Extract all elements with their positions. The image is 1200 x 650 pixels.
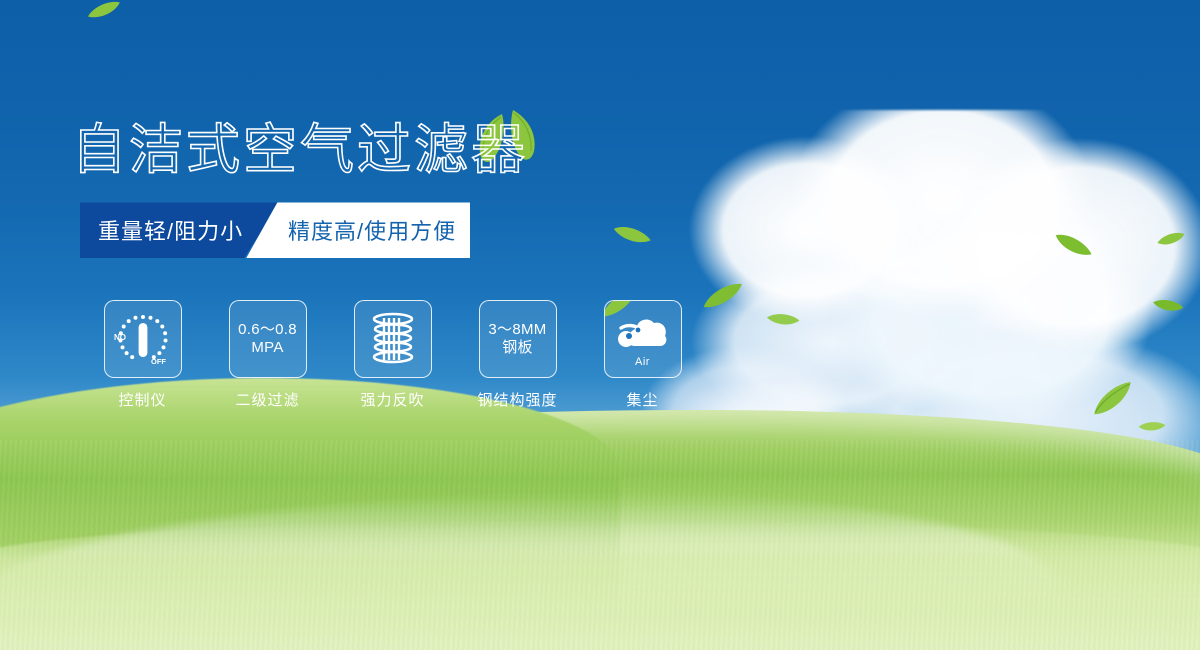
air-cloud-icon — [615, 315, 671, 355]
feature-item-steel[interactable]: 3～8MM 钢板 钢结构强度 — [455, 300, 580, 410]
feature-item-controller[interactable]: NO OFF 控制仪 — [80, 300, 205, 410]
feature-item-backblow[interactable]: 强力反吹 — [330, 300, 455, 410]
feature-item-dust[interactable]: Air 集尘 — [580, 300, 705, 410]
subtitle-left-panel: 重量轻/阻力小 — [80, 202, 280, 258]
steel-value-line2: 钢板 — [502, 339, 533, 357]
feature-label-steel: 钢结构强度 — [455, 389, 580, 410]
subtitle-right-panel: 精度高/使用方便 — [246, 202, 470, 258]
feature-box-pressure: 0.6～0.8 MPA — [229, 300, 307, 378]
feature-box-backblow — [354, 300, 432, 378]
air-label: Air — [635, 356, 650, 368]
subtitle-left-text: 重量轻/阻力小 — [98, 214, 243, 246]
feature-item-pressure[interactable]: 0.6～0.8 MPA 二级过滤 — [205, 300, 330, 410]
grass-foreground — [0, 520, 1200, 650]
subtitle-right-text: 精度高/使用方便 — [288, 214, 456, 246]
product-banner: 自洁式空气过滤器 重量轻/阻力小 精度高/使用方便 — [0, 0, 1200, 650]
feature-label-backblow: 强力反吹 — [330, 389, 455, 410]
feature-list: NO OFF 控制仪 0.6～0.8 MPA 二级过滤 — [80, 300, 712, 410]
svg-text:OFF: OFF — [151, 357, 166, 366]
feature-label-dust: 集尘 — [580, 389, 705, 410]
feature-label-controller: 控制仪 — [80, 389, 205, 410]
pressure-value-line2: MPA — [251, 339, 283, 357]
subtitle-bar: 重量轻/阻力小 精度高/使用方便 — [80, 202, 470, 258]
feature-label-pressure: 二级过滤 — [205, 389, 330, 410]
pressure-value-line1: 0.6～0.8 — [238, 321, 297, 339]
control-dial-icon: NO OFF — [112, 310, 174, 368]
filter-coil-icon — [366, 311, 420, 367]
feature-box-dust: Air — [604, 300, 682, 378]
steel-value-line1: 3～8MM — [488, 321, 546, 339]
banner-content: 自洁式空气过滤器 重量轻/阻力小 精度高/使用方便 — [72, 120, 712, 410]
page-title: 自洁式空气过滤器 — [72, 120, 712, 180]
feature-box-controller: NO OFF — [104, 300, 182, 378]
feature-box-steel: 3～8MM 钢板 — [479, 300, 557, 378]
svg-text:NO: NO — [114, 333, 126, 342]
